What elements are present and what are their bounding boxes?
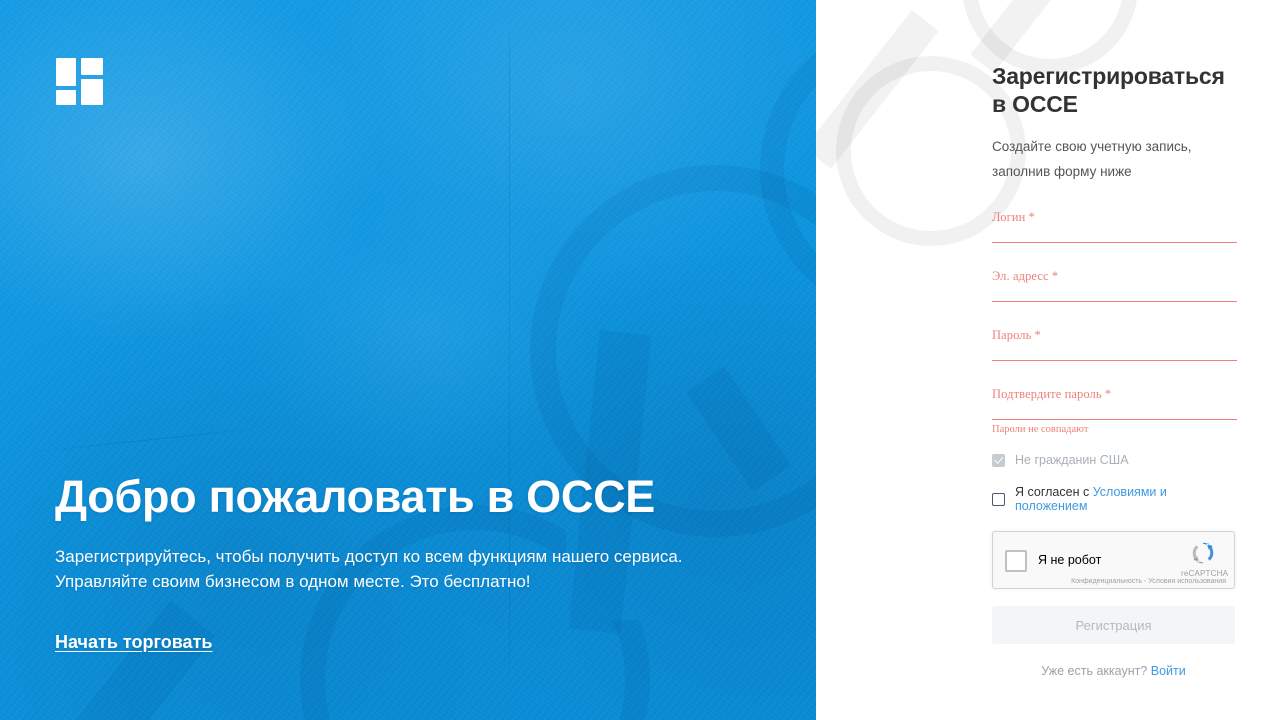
terms-prefix-text: Я согласен с — [1015, 485, 1093, 499]
signup-panel: Зарегистрироваться в OCCE Создайте свою … — [816, 0, 1280, 720]
hero-title: Добро пожаловать в OCCE — [55, 470, 755, 524]
confirm-password-input[interactable] — [992, 398, 1237, 420]
non-us-citizen-row[interactable]: Не гражданин США — [992, 453, 1237, 467]
password-input[interactable] — [992, 339, 1237, 361]
logo-block-top-right — [81, 58, 103, 75]
field-password: Пароль * — [992, 328, 1237, 361]
terms-agreement-row[interactable]: Я согласен с Условиями и положением — [992, 485, 1237, 513]
signin-row: Уже есть аккаунт? Войти — [992, 664, 1235, 678]
logo-block-bottom-left — [56, 90, 76, 105]
hero-subtitle: Зарегистрируйтесь, чтобы получить доступ… — [55, 544, 715, 594]
recaptcha-checkbox[interactable] — [1005, 550, 1027, 572]
register-button[interactable]: Регистрация — [992, 606, 1235, 644]
field-login: Логин * — [992, 210, 1237, 243]
signin-prefix-text: Уже есть аккаунт? — [1041, 664, 1151, 678]
signup-form: Зарегистрироваться в OCCE Создайте свою … — [992, 62, 1237, 678]
form-title: Зарегистрироваться в OCCE — [992, 62, 1237, 118]
recaptcha-branding: reCAPTCHA — [1181, 538, 1225, 578]
grid-logo-icon[interactable] — [56, 58, 103, 105]
hero-copy: Добро пожаловать в OCCE Зарегистрируйтес… — [55, 470, 755, 653]
login-input[interactable] — [992, 221, 1237, 243]
form-description: Создайте свою учетную запись, заполнив ф… — [992, 134, 1237, 184]
signin-link[interactable]: Войти — [1151, 664, 1186, 678]
recaptcha-legal-links[interactable]: Конфиденциальность - Условия использован… — [1071, 578, 1226, 585]
hero-panel: Добро пожаловать в OCCE Зарегистрируйтес… — [0, 0, 816, 720]
terms-label: Я согласен с Условиями и положением — [1015, 485, 1237, 513]
recaptcha-widget[interactable]: Я не робот reCAPTCHA Конфиденциальность … — [992, 531, 1235, 589]
logo-block-top-left — [56, 58, 76, 86]
logo-block-bottom-right — [81, 79, 103, 105]
password-mismatch-error: Пароли не совпадают — [992, 424, 1237, 435]
email-input[interactable] — [992, 280, 1237, 302]
recaptcha-label: Я не робот — [1038, 553, 1101, 567]
terms-checkbox[interactable] — [992, 493, 1005, 506]
field-email: Эл. адресс * — [992, 269, 1237, 302]
signup-page: Добро пожаловать в OCCE Зарегистрируйтес… — [0, 0, 1280, 720]
recaptcha-logo-icon — [1188, 538, 1218, 568]
field-confirm-password: Подтвердите пароль * — [992, 387, 1237, 420]
non-us-citizen-label: Не гражданин США — [1015, 453, 1129, 467]
non-us-citizen-checkbox[interactable] — [992, 454, 1005, 467]
start-trading-link[interactable]: Начать торговать — [55, 632, 212, 653]
recaptcha-brand-text: reCAPTCHA — [1181, 569, 1225, 578]
